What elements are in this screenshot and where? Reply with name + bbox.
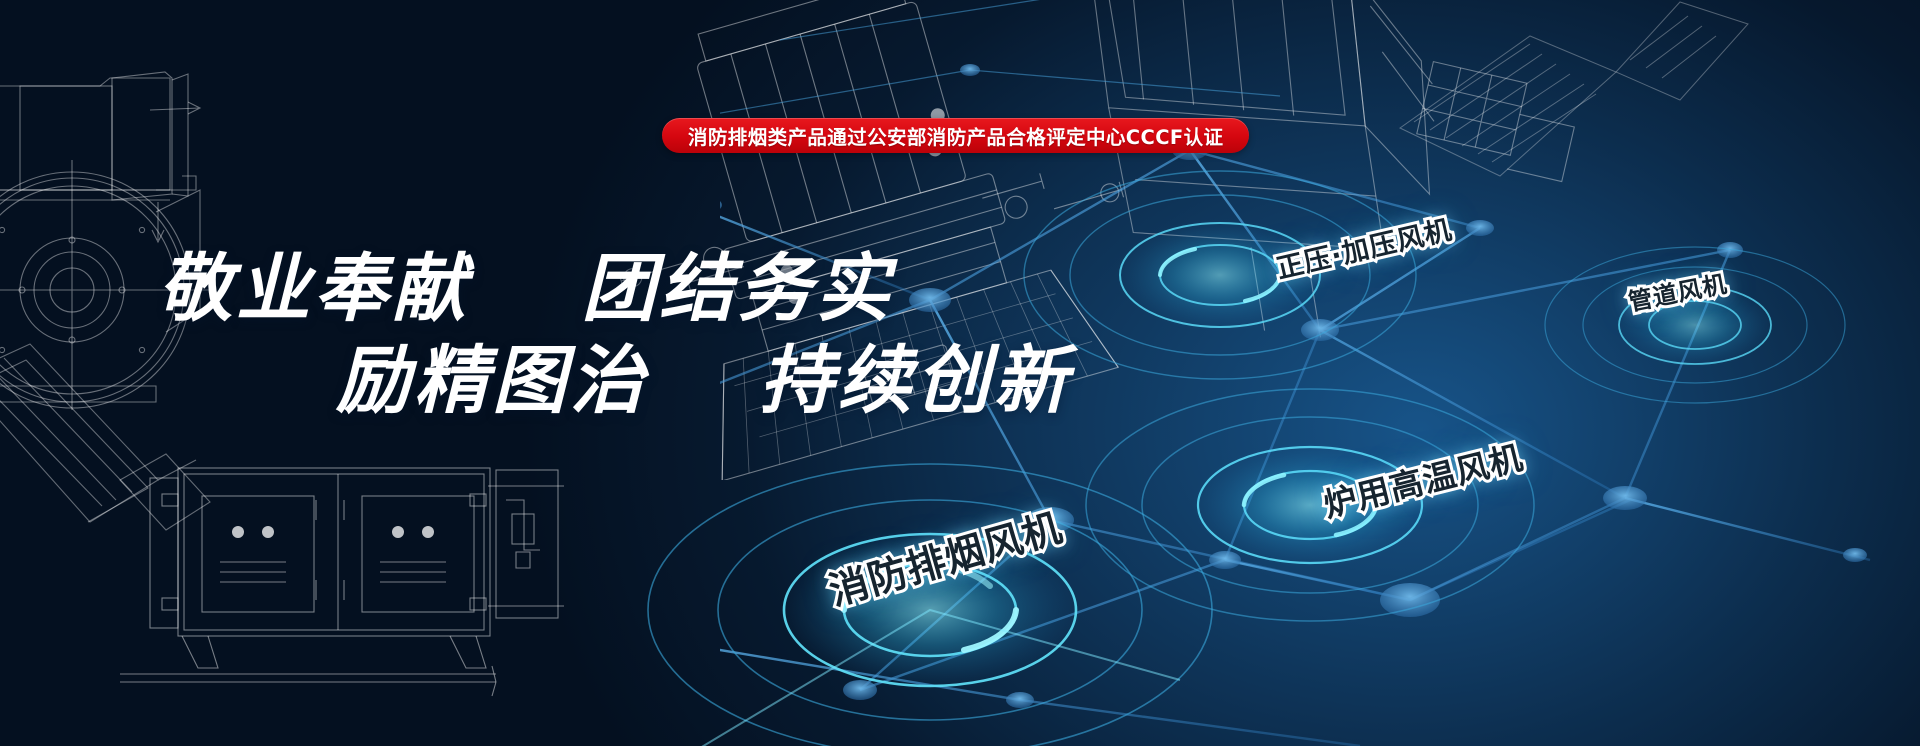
hero-banner: 正压·加压风机 正压·加压风机 管道风机 管道风机 炉用高温风机 炉用高温风机 … xyxy=(0,0,1920,746)
slogan-line-1: 敬业奉献 团结务实 xyxy=(158,250,1100,330)
slogan-line2-part1: 励精图治 xyxy=(336,338,648,424)
slogan-block: 敬业奉献 团结务实 励精图治 持续创新 xyxy=(150,250,1100,422)
radar-rings-duct xyxy=(1530,230,1860,420)
certification-badge-text: 消防排烟类产品通过公安部消防产品合格评定中心CCCF认证 xyxy=(688,121,1223,150)
slogan-line1-part1: 敬业奉献 xyxy=(158,246,470,332)
slogan-line-2: 励精图治 持续创新 xyxy=(336,342,1100,422)
certification-badge[interactable]: 消防排烟类产品通过公安部消防产品合格评定中心CCCF认证 xyxy=(662,118,1249,153)
slogan-line2-part2: 持续创新 xyxy=(760,338,1072,424)
slogan-line1-part2: 团结务实 xyxy=(582,246,894,332)
